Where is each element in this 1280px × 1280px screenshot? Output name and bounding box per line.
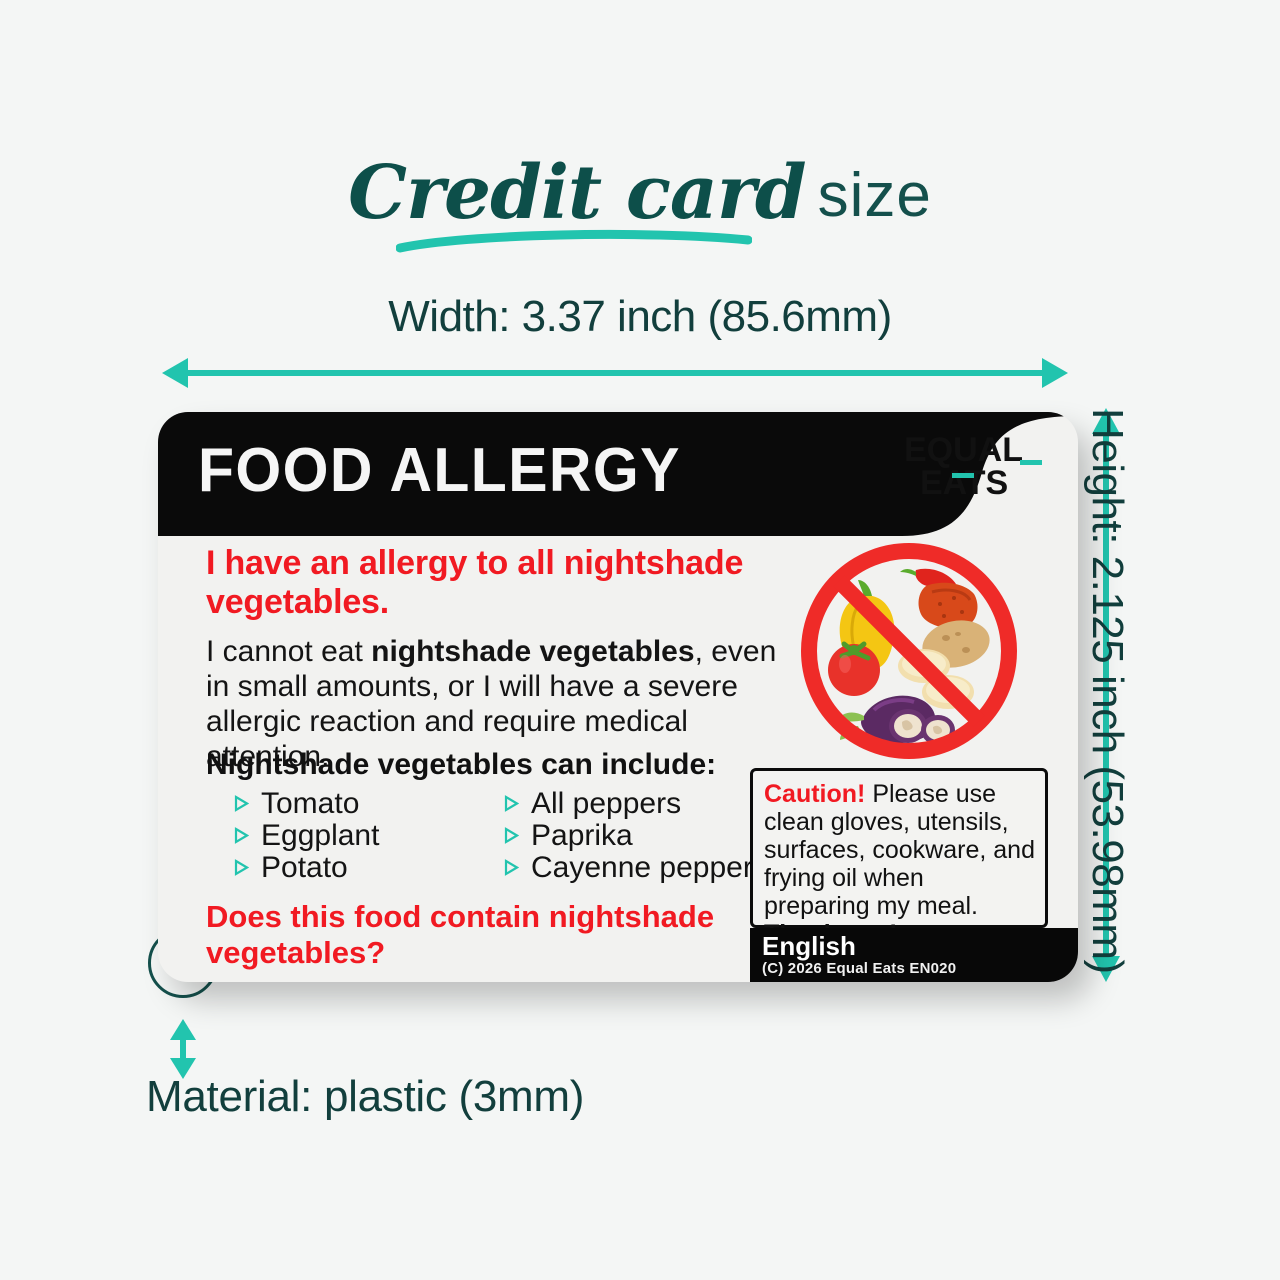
list-item-label: All peppers <box>531 788 681 820</box>
triangle-bullet-icon <box>504 795 519 812</box>
caution-label: Caution! <box>764 780 865 808</box>
card-footer: English (C) 2026 Equal Eats EN020 <box>750 928 1078 982</box>
list-item-label: Potato <box>261 852 348 884</box>
material-label: Material: plastic (3mm) <box>146 1072 584 1122</box>
logo-line-equal: EQUAL <box>904 434 1044 467</box>
caution-box: Caution! Please use clean gloves, utensi… <box>750 768 1048 928</box>
list-item: Paprika <box>504 820 736 852</box>
list-title: Nightshade vegetables can include: <box>206 749 716 781</box>
triangle-bullet-icon <box>234 795 249 812</box>
footer-copyright: (C) 2026 Equal Eats EN020 <box>762 960 1078 978</box>
width-dimension-label: Width: 3.37 inch (85.6mm) <box>0 292 1280 342</box>
list-item: Cayenne pepper <box>504 852 736 884</box>
triangle-bullet-icon <box>234 859 249 876</box>
nightshade-list-column-left: Tomato Eggplant Potato <box>234 788 466 884</box>
equal-eats-logo: EQUAL EATS <box>904 434 1044 500</box>
nightshade-list-column-right: All peppers Paprika Cayenne pepper <box>504 788 736 884</box>
footer-language: English <box>762 932 1078 960</box>
page-title: Credit cardsize <box>0 148 1280 234</box>
list-item-label: Eggplant <box>261 820 379 852</box>
list-item-label: Tomato <box>261 788 359 820</box>
width-dimension-arrow <box>160 350 1070 396</box>
triangle-bullet-icon <box>504 859 519 876</box>
logo-text-eats: EATS <box>920 464 1008 502</box>
allergy-question: Does this food contain nightshade vegeta… <box>206 899 726 971</box>
card-title: FOOD ALLERGY <box>198 440 681 502</box>
height-dimension-label: Height: 2.125 inch (53.98mm) <box>1088 408 1132 988</box>
list-item: Tomato <box>234 788 466 820</box>
list-item: Eggplant <box>234 820 466 852</box>
list-item: All peppers <box>504 788 736 820</box>
page-title-script: Credit card <box>348 150 806 236</box>
allergy-card: FOOD ALLERGY EQUAL EATS I have an allerg… <box>158 412 1078 982</box>
body-before: I cannot eat <box>206 635 371 668</box>
allergy-headline: I have an allergy to all nightshade vege… <box>206 544 786 622</box>
logo-equals-bar-top <box>1020 460 1042 465</box>
no-nightshade-vegetables-icon <box>798 540 1020 762</box>
triangle-bullet-icon <box>504 827 519 844</box>
body-bold: nightshade vegetables <box>371 635 694 668</box>
nightshade-list: Tomato Eggplant Potato All peppers Papri… <box>234 788 794 884</box>
material-thickness-arrow <box>162 1018 204 1080</box>
list-item-label: Cayenne pepper <box>531 852 753 884</box>
list-item-label: Paprika <box>531 820 633 852</box>
heading-underline-swoosh <box>396 228 752 254</box>
list-item: Potato <box>234 852 466 884</box>
page-title-plain: size <box>818 161 932 230</box>
logo-equals-bar-bottom <box>952 473 974 478</box>
triangle-bullet-icon <box>234 827 249 844</box>
logo-line-eats: EATS <box>904 467 1044 500</box>
